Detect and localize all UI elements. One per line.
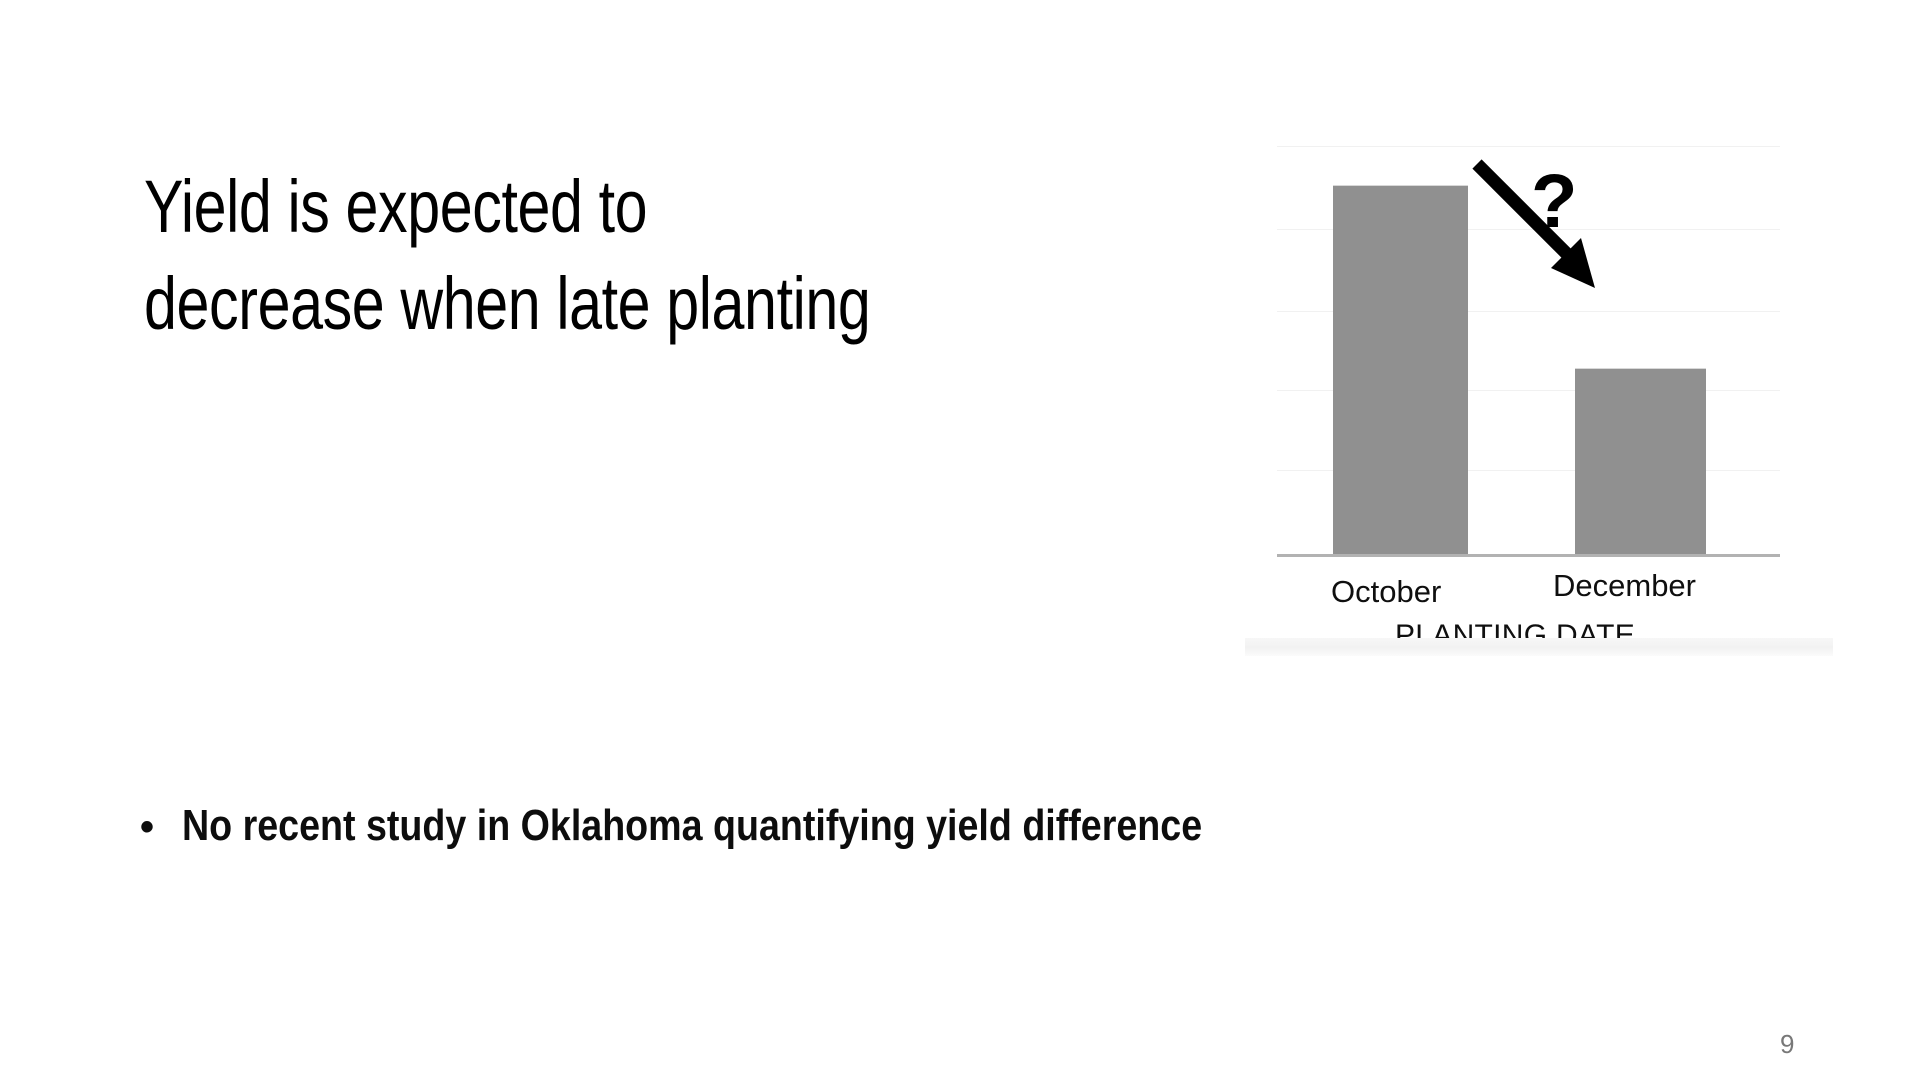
slide: Yield is expected to decrease when late … xyxy=(0,0,1920,1080)
page-title: Yield is expected to decrease when late … xyxy=(144,158,992,352)
chart-category-labels: October December xyxy=(1277,572,1780,616)
bar-december xyxy=(1575,368,1706,554)
gridline xyxy=(1277,146,1780,147)
bar-october xyxy=(1333,185,1468,554)
chart-plot-area: ? xyxy=(1277,102,1780,557)
category-label-october: October xyxy=(1331,572,1441,612)
page-number: 9 xyxy=(1780,1028,1794,1060)
chart-bottom-band xyxy=(1245,638,1833,656)
bullet-text: No recent study in Oklahoma quantifying … xyxy=(182,798,1202,854)
planting-date-bar-chart: ? October December PLANTING DATE xyxy=(1245,72,1833,656)
x-axis-line xyxy=(1277,554,1780,557)
body-bullet-list: • No recent study in Oklahoma quantifyin… xyxy=(140,798,1700,855)
category-label-december: December xyxy=(1553,566,1696,606)
list-item: • No recent study in Oklahoma quantifyin… xyxy=(140,798,1700,855)
bullet-marker: • xyxy=(140,799,182,855)
question-mark-annotation: ? xyxy=(1531,164,1577,240)
